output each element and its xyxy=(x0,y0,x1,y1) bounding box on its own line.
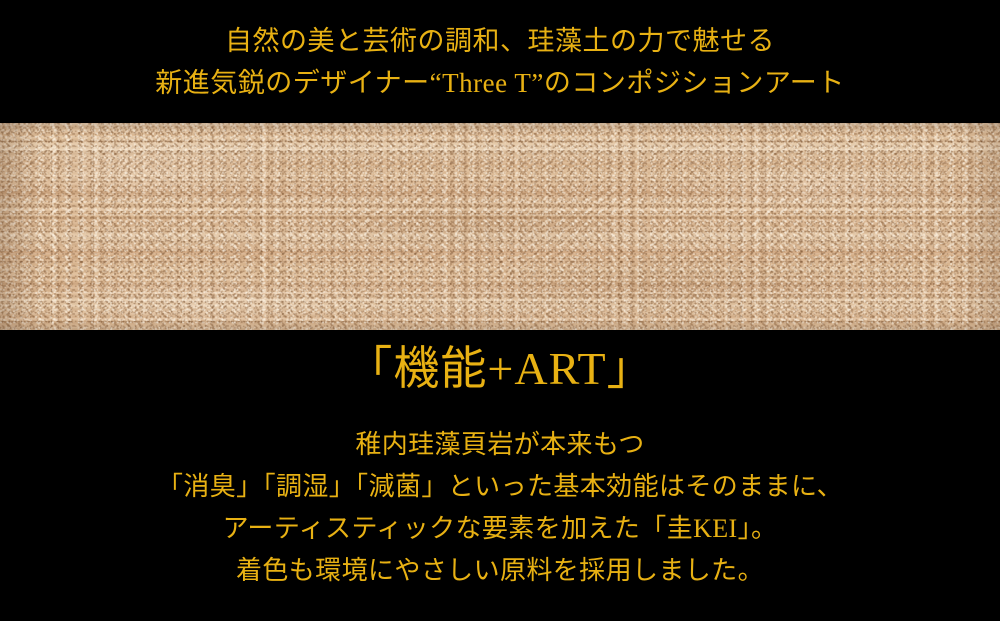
body-copy-block: 稚内珪藻頁岩が本来もつ 「消臭」「調湿」「減菌」といった基本効能はそのままに、 … xyxy=(0,424,1000,592)
body-line-4: 着色も環境にやさしい原料を採用しました。 xyxy=(0,550,1000,592)
body-line-3: アーティスティックな要素を加えた「圭KEI」。 xyxy=(0,508,1000,550)
wall-texture-image xyxy=(0,123,1000,330)
body-line-2: 「消臭」「調湿」「減菌」といった基本効能はそのままに、 xyxy=(0,466,1000,508)
headline-line-2-suffix: ”のコンポジションアート xyxy=(531,68,844,98)
headline-line-2-prefix: 新進気鋭のデザイナー“ xyxy=(155,68,442,98)
headline-line-2: 新進気鋭のデザイナー“Three T”のコンポジションアート xyxy=(155,62,845,104)
headline-block: 自然の美と芸術の調和、珪藻土の力で魅せる 新進気鋭のデザイナー“Three T”… xyxy=(0,0,1000,123)
texture-vignette-layer xyxy=(0,123,1000,330)
body-line-1: 稚内珪藻頁岩が本来もつ xyxy=(0,424,1000,466)
feature-title: 「機能+ART」 xyxy=(0,338,1000,400)
designer-name: Three T xyxy=(442,68,531,98)
promo-banner: 自然の美と芸術の調和、珪藻土の力で魅せる 新進気鋭のデザイナー“Three T”… xyxy=(0,0,1000,621)
headline-line-1: 自然の美と芸術の調和、珪藻土の力で魅せる xyxy=(225,20,775,62)
